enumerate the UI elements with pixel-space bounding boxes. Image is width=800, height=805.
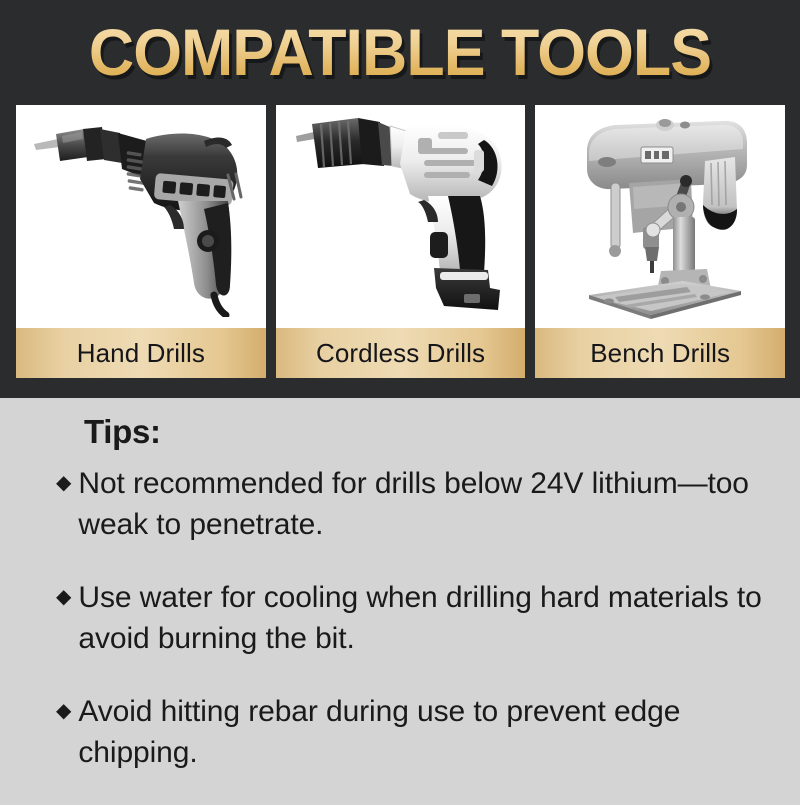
cordless-drill-icon [276, 105, 526, 328]
product-infographic: COMPATIBLE TOOLS [0, 0, 800, 800]
tip-text: Use water for cooling when drilling hard… [78, 577, 766, 659]
tool-card-hand-drills[interactable]: Hand Drills [16, 105, 266, 378]
list-item: ◆ Not recommended for drills below 24V l… [56, 463, 766, 545]
tool-card-caption: Cordless Drills [276, 328, 526, 378]
diamond-bullet-icon: ◆ [56, 577, 71, 618]
tool-card-cordless-drills[interactable]: Cordless Drills [276, 105, 526, 378]
bench-drill-press-icon [535, 105, 785, 328]
tool-card-caption: Hand Drills [16, 328, 266, 378]
tip-text: Avoid hitting rebar during use to preven… [78, 691, 766, 773]
tip-text: Not recommended for drills below 24V lit… [78, 463, 766, 545]
diamond-bullet-icon: ◆ [56, 463, 71, 504]
list-item: ◆ Avoid hitting rebar during use to prev… [56, 691, 766, 773]
tool-card-bench-drills[interactable]: Bench Drills [535, 105, 785, 378]
compatible-tools-card-row: Hand Drills [16, 105, 785, 378]
list-item: ◆ Use water for cooling when drilling ha… [56, 577, 766, 659]
diamond-bullet-icon: ◆ [56, 691, 71, 732]
tips-list: ◆ Not recommended for drills below 24V l… [56, 463, 766, 805]
page-title: COMPATIBLE TOOLS [20, 17, 780, 87]
corded-hand-drill-icon [16, 105, 266, 328]
tool-card-caption: Bench Drills [535, 328, 785, 378]
tips-heading: Tips: [84, 413, 161, 451]
